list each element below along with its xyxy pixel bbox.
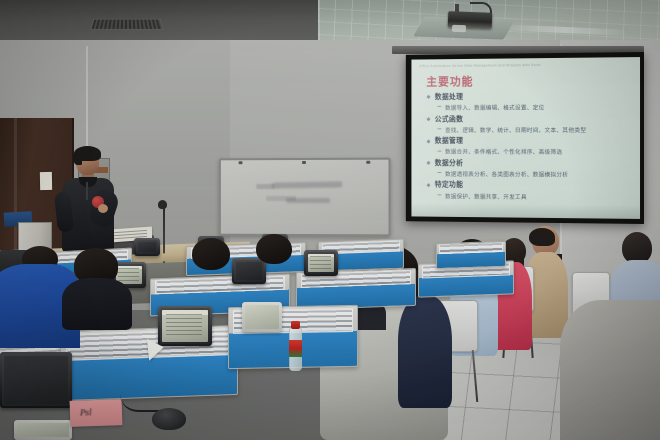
whiteboard-clip [302,161,306,164]
projector-lens [452,25,466,32]
presenter-shirt-placket [86,182,88,200]
attendee-head [192,238,230,270]
slide-section-heading: 特定功能 [426,180,634,191]
slide-section-detail: 数据合并、条件格式、个性化排序、高级筛选 [426,147,634,156]
attendee-head [256,234,292,264]
slide-section-detail: 数据导入、数据编辑、格式设置、定位 [426,102,634,112]
whiteboard [219,158,391,237]
whiteboard-writing-line [272,181,342,188]
monitor-foreground [158,306,212,346]
slide-section-detail: 查找、逻辑、数学、统计、日期时间、文本、其他类型 [426,125,634,134]
slide-title: 主要功能 [426,74,473,90]
slide-section-detail: 数据保护、数据共享、开发工具 [426,191,634,202]
slide-header-text: Office Automation Series Data Management… [419,62,632,68]
monitor-bottom [14,420,72,440]
attendee-center-left [186,238,240,284]
presenter-hair-side [73,151,82,165]
slide-section-detail: 数据透视表分析、各类图表分析、数据模拟分析 [426,169,634,179]
slide-surface: Office Automation Series Data Management… [411,57,640,219]
bottle-cap [291,321,300,329]
sticky-note-text: Psl [80,408,110,416]
computer-mouse [152,408,186,430]
attendee-center [250,234,300,278]
bottle-label [289,340,302,357]
presenter-hand [98,204,108,213]
slide-section: 数据处理 数据导入、数据编辑、格式设置、定位 [426,91,634,112]
projection-screen: Office Automation Series Data Management… [406,52,644,224]
whiteboard-writing-line [286,198,330,203]
wall-paper-notice [40,172,52,190]
screen-shading [411,203,640,219]
microphone-icon [158,200,167,209]
slide-section: 数据分析 数据透视表分析、各类图表分析、数据模拟分析 [426,158,634,179]
monitor [304,250,338,276]
classroom-scene: Office Automation Series Data Management… [0,0,660,440]
whiteboard-clip [366,161,370,164]
monitor-foreground [0,352,72,408]
slide-section-heading: 数据处理 [426,91,634,102]
monitor [134,238,160,256]
slide-section-heading: 数据管理 [426,136,634,146]
slide-section-heading: 数据分析 [426,158,634,169]
paper-cone [147,337,165,361]
slide-section: 特定功能 数据保护、数据共享、开发工具 [426,180,634,201]
attendee-dark-jacket [58,248,134,318]
slide-section-heading: 公式函数 [426,114,634,124]
sticky-note: Psl [70,399,123,427]
whiteboard-clip [239,161,243,164]
ceiling-vent-icon [90,19,164,30]
cabinet-edge [14,118,17,258]
attendee-body [62,278,132,330]
slide-section: 公式函数 查找、逻辑、数学、统计、日期时间、文本、其他类型 [426,114,634,134]
slide-section: 数据管理 数据合并、条件格式、个性化排序、高级筛选 [426,136,634,156]
monitor [242,302,282,332]
slide-body: 数据处理 数据导入、数据编辑、格式设置、定位 公式函数 查找、逻辑、数学、统计、… [426,91,634,204]
cubicle-partition [436,241,506,269]
